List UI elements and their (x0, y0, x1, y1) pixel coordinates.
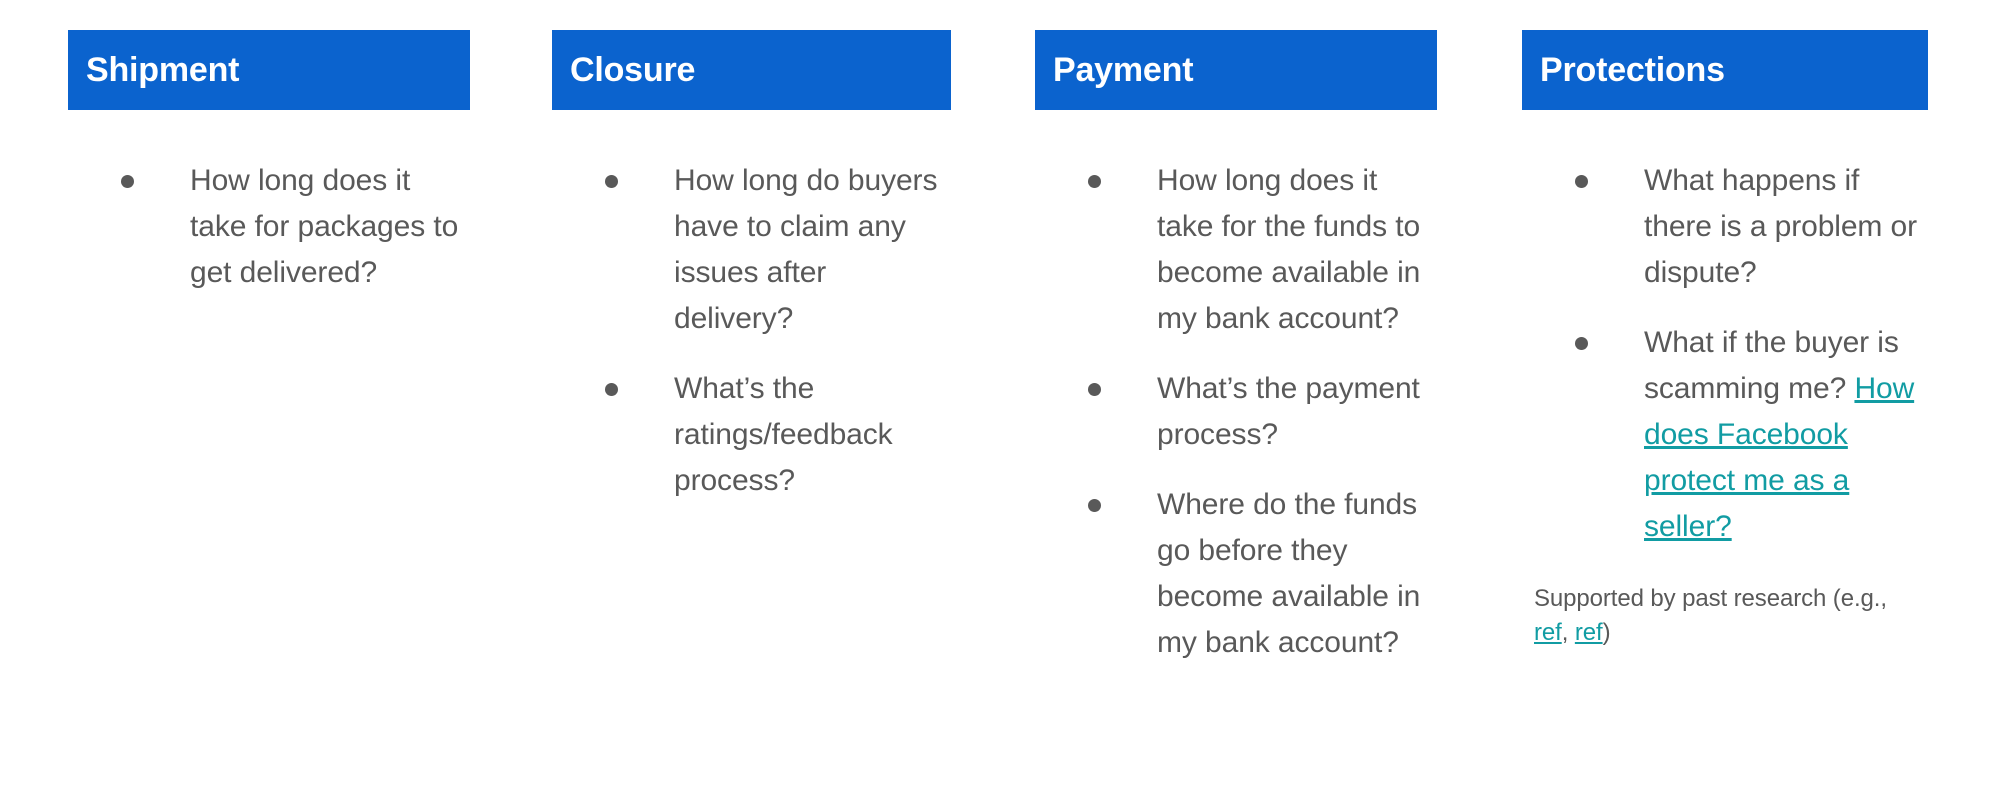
column-protections: Protections What happens if there is a p… (1522, 30, 1928, 650)
bullet-dot-icon (1088, 383, 1101, 396)
column-header-payment: Payment (1035, 30, 1437, 110)
list-item: What if the buyer is scamming me? How do… (1522, 320, 1928, 550)
column-header-protections: Protections (1522, 30, 1928, 110)
slide-canvas: Shipment How long does it take for packa… (0, 0, 2000, 789)
bullet-text: What’s the payment process? (1157, 372, 1420, 451)
footnote-supported-by-research: Supported by past research (e.g., ref, r… (1522, 582, 1914, 650)
bullet-list-payment: How long does it take for the funds to b… (1035, 158, 1437, 666)
bullet-text: How long do buyers have to claim any iss… (674, 164, 937, 335)
list-item: Where do the funds go before they become… (1035, 482, 1437, 666)
list-item: What’s the payment process? (1035, 366, 1437, 458)
bullet-dot-icon (605, 383, 618, 396)
column-payment: Payment How long does it take for the fu… (1035, 30, 1437, 666)
bullet-dot-icon (1575, 175, 1588, 188)
list-item: How long does it take for packages to ge… (68, 158, 470, 296)
bullet-dot-icon (1088, 499, 1101, 512)
bullet-text: How long does it take for packages to ge… (190, 164, 458, 289)
bullet-list-protections: What happens if there is a problem or di… (1522, 158, 1928, 550)
column-closure: Closure How long do buyers have to claim… (552, 30, 951, 504)
ref-link-two[interactable]: ref (1575, 619, 1603, 646)
bullet-dot-icon (605, 175, 618, 188)
column-title-shipment: Shipment (86, 53, 239, 87)
column-title-protections: Protections (1540, 53, 1725, 87)
bullet-list-closure: How long do buyers have to claim any iss… (552, 158, 951, 504)
list-item: What’s the ratings/feedback process? (552, 366, 951, 504)
footnote-suffix: ) (1603, 619, 1611, 646)
bullet-text: Where do the funds go before they become… (1157, 488, 1420, 659)
ref-link-one[interactable]: ref (1534, 619, 1562, 646)
column-shipment: Shipment How long does it take for packa… (68, 30, 470, 296)
column-header-shipment: Shipment (68, 30, 470, 110)
column-header-closure: Closure (552, 30, 951, 110)
bullet-dot-icon (1575, 337, 1588, 350)
bullet-dot-icon (1088, 175, 1101, 188)
list-item: How long do buyers have to claim any iss… (552, 158, 951, 342)
footnote-prefix: Supported by past research (e.g., (1534, 585, 1887, 612)
list-item: What happens if there is a problem or di… (1522, 158, 1928, 296)
bullet-text: What happens if there is a problem or di… (1644, 164, 1917, 289)
bullet-list-shipment: How long does it take for packages to ge… (68, 158, 470, 296)
bullet-text: What’s the ratings/feedback process? (674, 372, 893, 497)
bullet-text: How long does it take for the funds to b… (1157, 164, 1420, 335)
footnote-separator: , (1562, 619, 1575, 646)
column-title-payment: Payment (1053, 53, 1193, 87)
list-item: How long does it take for the funds to b… (1035, 158, 1437, 342)
column-title-closure: Closure (570, 53, 695, 87)
bullet-dot-icon (121, 175, 134, 188)
